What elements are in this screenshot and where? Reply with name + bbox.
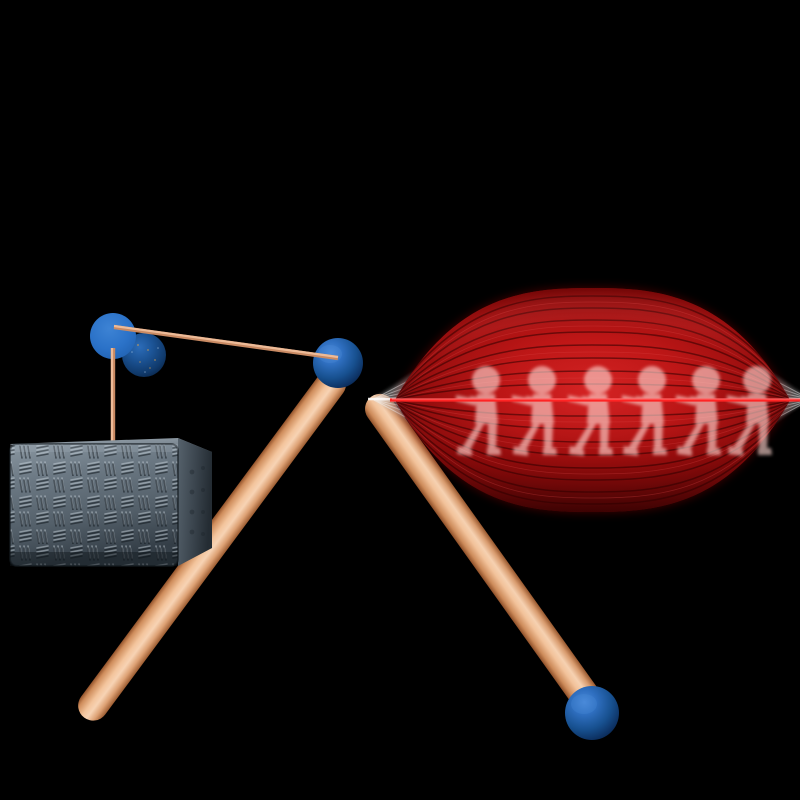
weight-block [10, 438, 212, 566]
joint-sphere-elbow [565, 686, 619, 740]
muscle-rope [380, 399, 800, 400]
muscle-contraction-illustration [0, 0, 800, 800]
joint-sphere-top [313, 338, 363, 388]
illustration-canvas: Type of muscle contraction [0, 0, 800, 800]
